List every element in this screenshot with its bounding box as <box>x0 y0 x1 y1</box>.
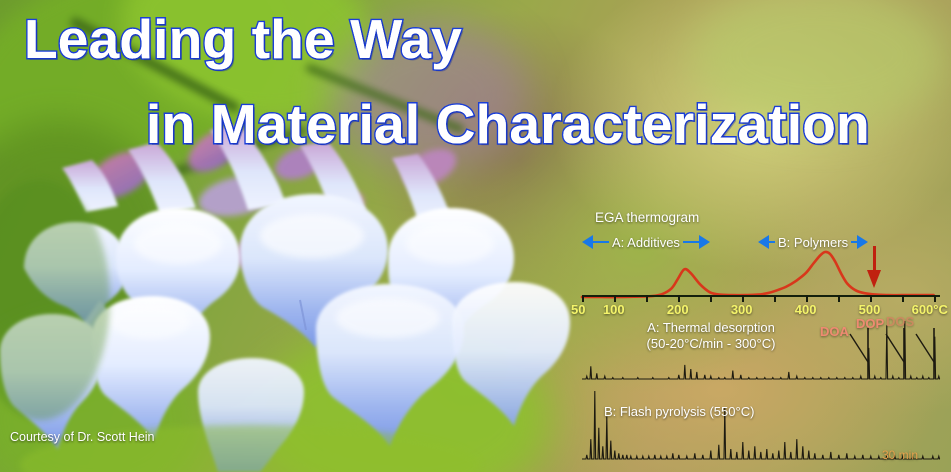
axis-tick <box>646 295 648 302</box>
axis-tick <box>582 295 584 302</box>
axis-tick <box>774 295 776 302</box>
axis-tick-label: 300 <box>731 302 753 317</box>
arrow-left-icon <box>758 235 769 249</box>
arrow-left-icon <box>582 235 593 249</box>
ega-thermogram-title: EGA thermogram <box>595 210 699 225</box>
axis-tick-label: 400 <box>795 302 817 317</box>
axis-tick-label: 500 <box>859 302 881 317</box>
axis-tick <box>934 295 936 302</box>
axis-tick <box>870 295 872 302</box>
region-label-polymers: B: Polymers <box>775 235 851 250</box>
axis-line <box>582 295 940 297</box>
ega-thermogram-plot <box>582 250 940 300</box>
axis-tick-label: 100 <box>603 302 625 317</box>
axis-tick <box>838 295 840 302</box>
banner-root: Leading the Way in Material Characteriza… <box>0 0 951 472</box>
photo-credit: Courtesy of Dr. Scott Hein <box>10 430 155 444</box>
region-label-additives: A: Additives <box>609 235 683 250</box>
arrow-head-down-icon <box>867 270 881 288</box>
region-arrow-additives: A: Additives <box>582 232 752 252</box>
axis-tick <box>742 295 744 302</box>
arrow-bar <box>683 241 699 243</box>
axis-tick <box>678 295 680 302</box>
peak-label: DOP <box>856 316 884 331</box>
peak-label: DOS <box>886 314 914 329</box>
peak-label: DOA <box>820 324 849 339</box>
arrow-right-icon <box>699 235 710 249</box>
arrow-bar <box>593 241 609 243</box>
axis-tick <box>806 295 808 302</box>
region-arrow-polymers: B: Polymers <box>758 232 882 252</box>
region-arrow-row: A: Additives B: Polymers <box>582 232 882 252</box>
bluebell-flower <box>92 296 210 440</box>
axis-tick-label: 200 <box>667 302 689 317</box>
bluebell-flower <box>452 282 570 426</box>
run-time-label: 30 min <box>882 448 918 462</box>
axis-tick-label: 50 <box>571 302 585 317</box>
pyrolysis-temperature-arrow-icon <box>867 246 881 290</box>
flash-pyrolysis-caption: B: Flash pyrolysis (550°C) <box>604 404 754 419</box>
peak-label-group: DOADOPDOS <box>582 318 940 380</box>
ega-curve <box>582 250 940 300</box>
axis-tick <box>902 295 904 302</box>
analysis-figure-panel: EGA thermogram A: Additives B: Polymers <box>560 198 951 472</box>
axis-tick-label: 600°C <box>912 302 948 317</box>
axis-tick <box>614 295 616 302</box>
axis-tick <box>710 295 712 302</box>
bluebell-flower <box>316 284 464 446</box>
